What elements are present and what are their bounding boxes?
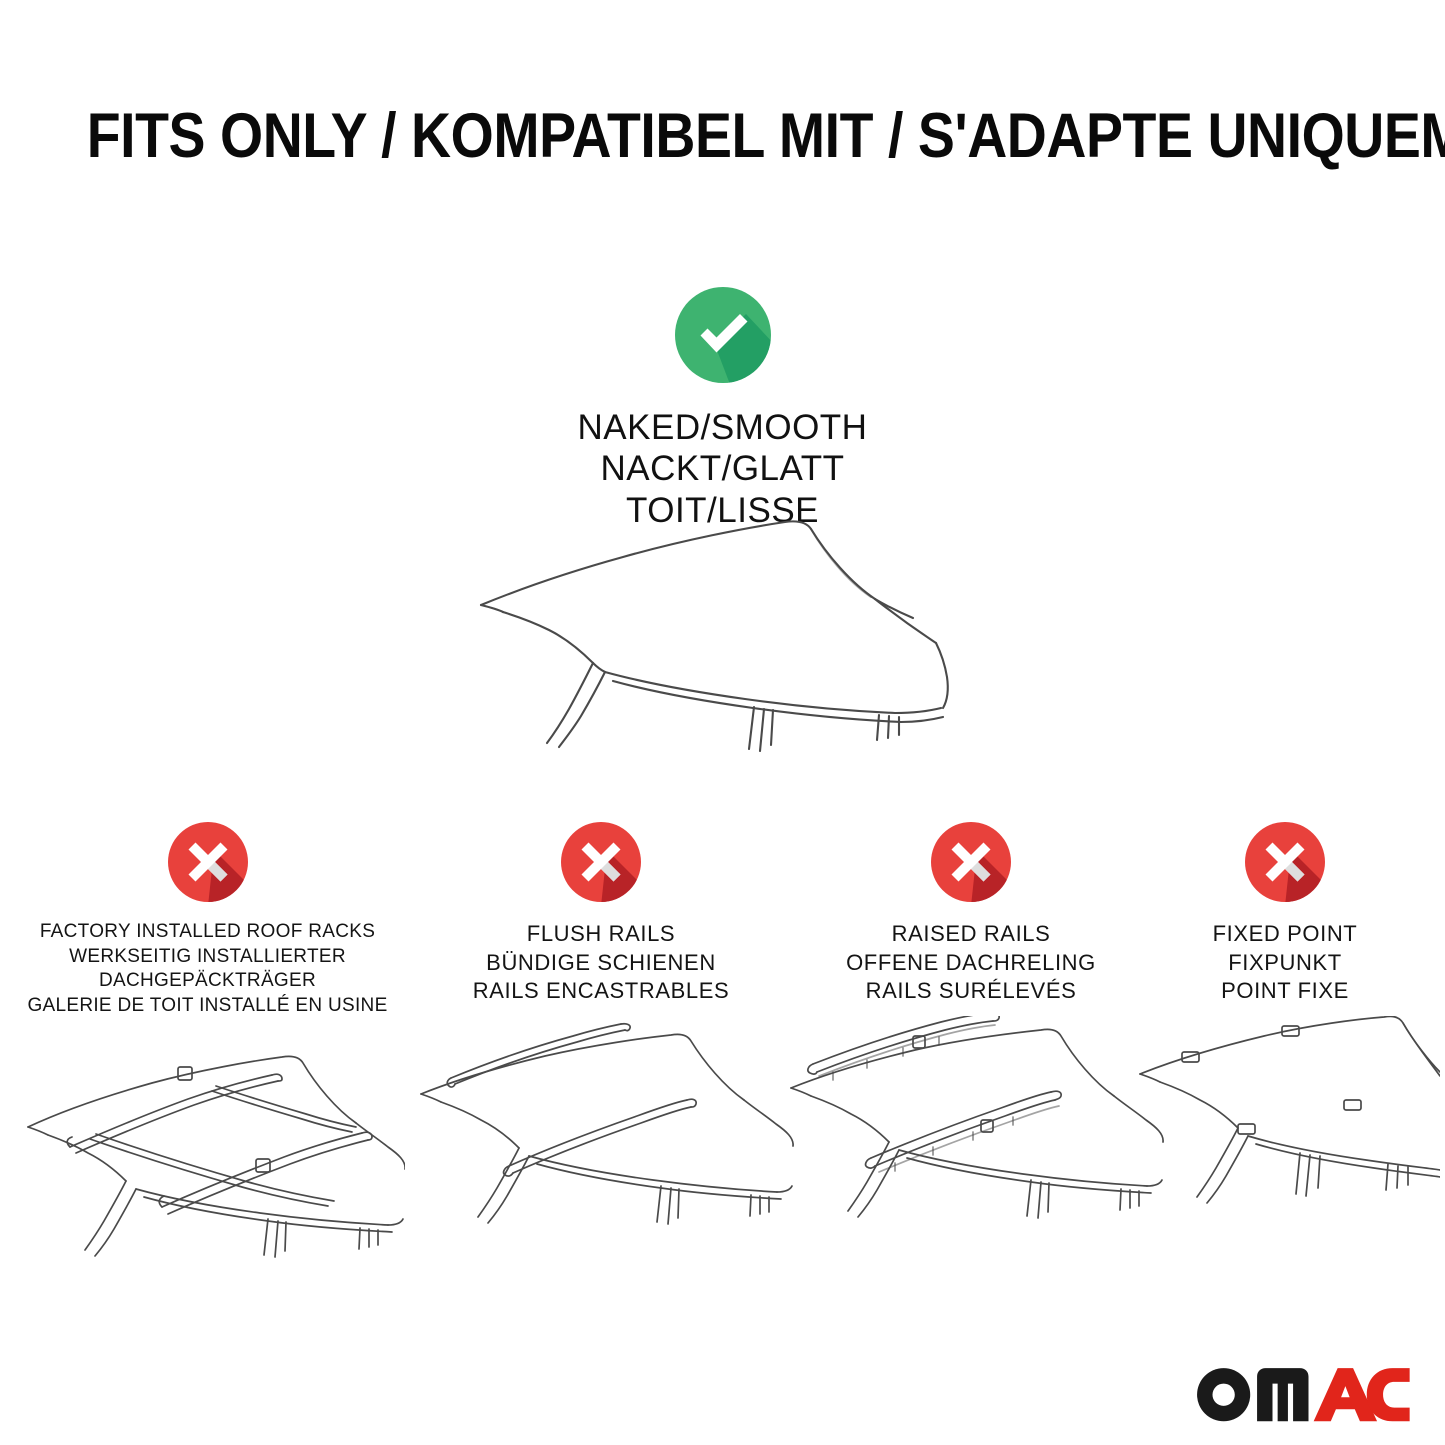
logo-letter-o bbox=[1197, 1368, 1250, 1421]
rejected-item-factory-racks: FACTORY INSTALLED ROOF RACKS WERKSEITIG … bbox=[10, 818, 405, 1259]
rejected-line-2: WERKSEITIG INSTALLIERTER bbox=[10, 945, 405, 970]
approved-fitment-block: NAKED/SMOOTH NACKT/GLATT TOIT/LISSE bbox=[0, 283, 1445, 531]
rejected-line-3: RAILS ENCASTRABLES bbox=[405, 977, 797, 1006]
x-circle-icon bbox=[557, 818, 645, 906]
page-title: FITS ONLY / KOMPATIBEL MIT / S'ADAPTE UN… bbox=[87, 100, 1359, 172]
rejected-line-1: FACTORY INSTALLED ROOF RACKS bbox=[10, 920, 405, 945]
rejected-caption-flush-rails: FLUSH RAILS BÜNDIGE SCHIENEN RAILS ENCAS… bbox=[405, 920, 797, 1006]
car-roof-flush-rails-illustration bbox=[405, 1016, 797, 1246]
rejected-line-2: FIXPUNKT bbox=[1130, 949, 1440, 978]
car-roof-raised-rails-illustration bbox=[775, 1016, 1167, 1246]
rejected-caption-fixed-point: FIXED POINT FIXPUNKT POINT FIXE bbox=[1130, 920, 1440, 1006]
rejected-line-1: FIXED POINT bbox=[1130, 920, 1440, 949]
rejected-line-3: POINT FIXE bbox=[1130, 977, 1440, 1006]
rejected-item-flush-rails: FLUSH RAILS BÜNDIGE SCHIENEN RAILS ENCAS… bbox=[405, 818, 797, 1246]
car-roof-fixed-point-illustration bbox=[1130, 1016, 1440, 1246]
x-circle-icon bbox=[164, 818, 252, 906]
car-roof-factory-racks-illustration bbox=[10, 1029, 405, 1259]
rejected-line-3: DACHGEPÄCKTRÄGER bbox=[10, 969, 405, 994]
rejected-line-1: RAISED RAILS bbox=[775, 920, 1167, 949]
approved-line-2: NACKT/GLATT bbox=[0, 448, 1445, 489]
rejected-caption-factory-racks: FACTORY INSTALLED ROOF RACKS WERKSEITIG … bbox=[10, 920, 405, 1019]
rejected-caption-raised-rails: RAISED RAILS OFFENE DACHRELING RAILS SUR… bbox=[775, 920, 1167, 1006]
rejected-line-2: OFFENE DACHRELING bbox=[775, 949, 1167, 978]
rejected-item-fixed-point: FIXED POINT FIXPUNKT POINT FIXE bbox=[1130, 818, 1440, 1246]
rejected-line-4: GALERIE DE TOIT INSTALLÉ EN USINE bbox=[10, 994, 405, 1019]
rejected-item-raised-rails: RAISED RAILS OFFENE DACHRELING RAILS SUR… bbox=[775, 818, 1167, 1246]
rejected-fitments-row: FACTORY INSTALLED ROOF RACKS WERKSEITIG … bbox=[0, 818, 1445, 1438]
logo-letter-m bbox=[1257, 1368, 1308, 1421]
approved-line-1: NAKED/SMOOTH bbox=[0, 407, 1445, 448]
x-circle-icon bbox=[927, 818, 1015, 906]
car-roof-naked-smooth-illustration bbox=[455, 495, 995, 755]
rejected-line-1: FLUSH RAILS bbox=[405, 920, 797, 949]
compatibility-infographic: FITS ONLY / KOMPATIBEL MIT / S'ADAPTE UN… bbox=[0, 0, 1445, 1445]
rejected-line-3: RAILS SURÉLEVÉS bbox=[775, 977, 1167, 1006]
x-circle-icon bbox=[1241, 818, 1329, 906]
omac-logo bbox=[1195, 1363, 1410, 1423]
rejected-line-2: BÜNDIGE SCHIENEN bbox=[405, 949, 797, 978]
check-circle-icon bbox=[671, 283, 775, 387]
